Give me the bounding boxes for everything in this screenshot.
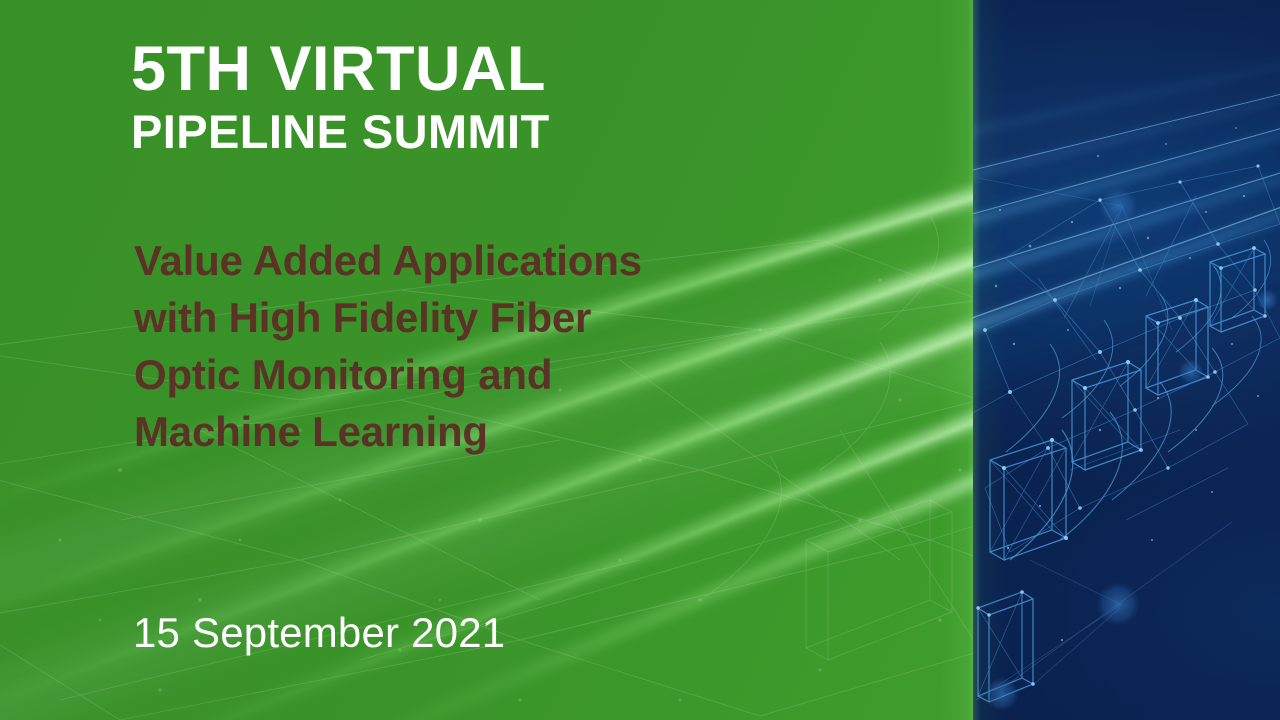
- presentation-subtitle: Value Added Applications with High Fidel…: [134, 232, 774, 460]
- subtitle-line-4: Machine Learning: [134, 403, 774, 460]
- subtitle-line-3: Optic Monitoring and: [134, 346, 774, 403]
- subtitle-line-1: Value Added Applications: [134, 232, 774, 289]
- presentation-slide: 5TH VIRTUAL PIPELINE SUMMIT Value Added …: [0, 0, 1280, 720]
- event-date: 15 September 2021: [133, 608, 505, 658]
- subtitle-line-2: with High Fidelity Fiber: [134, 289, 774, 346]
- title-line-2: PIPELINE SUMMIT: [131, 102, 550, 158]
- title-line-1: 5TH VIRTUAL: [131, 36, 550, 102]
- date-text: 15 September 2021: [133, 608, 505, 658]
- event-title: 5TH VIRTUAL PIPELINE SUMMIT: [131, 36, 550, 158]
- slide-text-layer: 5TH VIRTUAL PIPELINE SUMMIT Value Added …: [0, 0, 1280, 720]
